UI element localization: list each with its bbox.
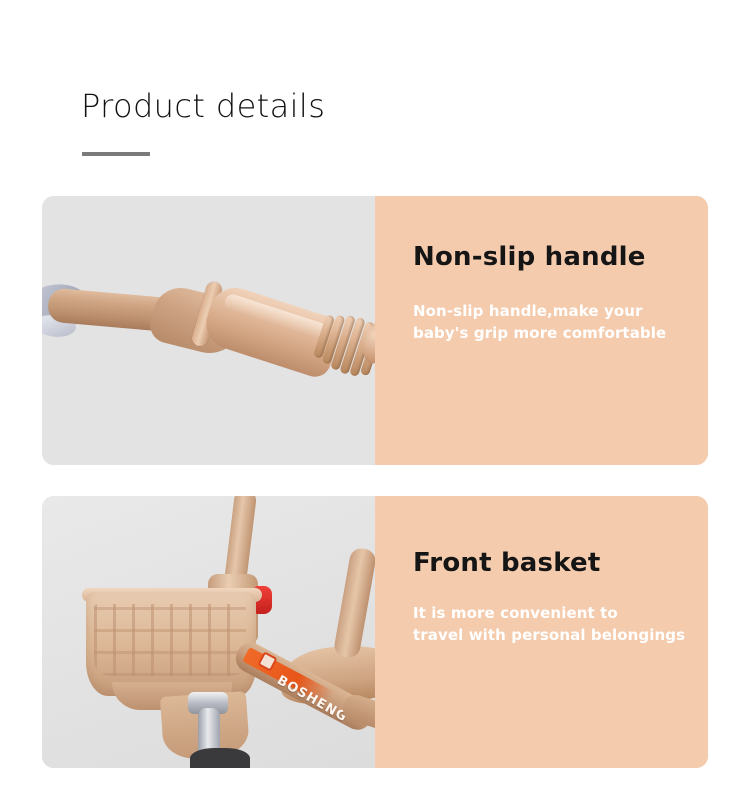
title-underline-rule [82,152,150,156]
feature-image-front-basket: BOSHENG [42,496,375,768]
feature-heading: Non-slip handle [413,242,646,272]
feature-description-line-2: travel with personal belongings [413,624,685,646]
basket-lattice-pattern [94,604,246,676]
tricycle-basket-illustration: BOSHENG [42,496,375,768]
handlebar-grip-illustration [42,196,375,465]
feature-description: Non-slip handle,make your baby's grip mo… [413,300,666,344]
feature-card-non-slip-handle: Non-slip handle Non-slip handle,make you… [42,196,708,465]
feature-description-line-1: It is more convenient to [413,602,685,624]
feature-description-line-2: baby's grip more comfortable [413,322,666,344]
rear-frame-leg-shape [340,692,375,738]
feature-description-line-1: Non-slip handle,make your [413,300,666,322]
feature-copy-non-slip-handle: Non-slip handle Non-slip handle,make you… [375,196,708,465]
front-wheel-shape [190,748,250,768]
feature-image-non-slip-handle [42,196,375,465]
feature-description: It is more convenient to travel with per… [413,602,685,646]
feature-copy-front-basket: Front basket It is more convenient to tr… [375,496,708,768]
feature-card-front-basket: BOSHENG Front basket It is more convenie… [42,496,708,768]
page-title: Product details [81,85,325,127]
seat-back-post-shape [333,547,375,660]
product-details-page: Product details Non-slip handle Non-slip… [0,0,750,794]
feature-heading: Front basket [413,548,600,578]
